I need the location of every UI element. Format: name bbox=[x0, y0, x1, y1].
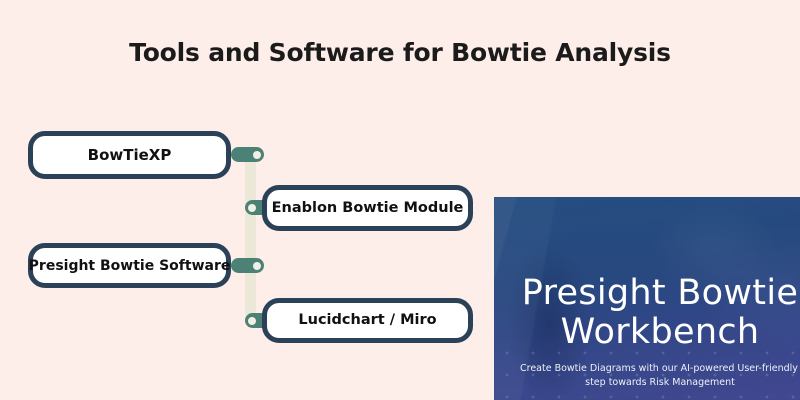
mindmap-node-label: BowTieXP bbox=[88, 148, 172, 163]
connector-dot-icon bbox=[253, 151, 261, 159]
connector-dot-icon bbox=[248, 317, 256, 325]
mindmap-node-label: Presight Bowtie Software bbox=[29, 259, 231, 273]
promo-panel[interactable]: Presight Bowtie Workbench Create Bowtie … bbox=[494, 197, 800, 400]
promo-heading: Presight Bowtie Workbench bbox=[520, 274, 800, 352]
connector-spine bbox=[245, 149, 256, 324]
mindmap-node-label: Lucidchart / Miro bbox=[298, 313, 436, 328]
connector-stub-bowtiexp bbox=[231, 147, 264, 162]
connector-dot-icon bbox=[253, 262, 261, 270]
promo-subtitle-line2: step towards Risk Management bbox=[520, 376, 800, 390]
promo-heading-line2: Workbench bbox=[520, 313, 800, 352]
promo-subtitle: Create Bowtie Diagrams with our AI-power… bbox=[520, 362, 800, 391]
promo-heading-line1: Presight Bowtie bbox=[520, 274, 800, 313]
promo-text-block: Presight Bowtie Workbench Create Bowtie … bbox=[494, 197, 800, 400]
mindmap-node-label: Enablon Bowtie Module bbox=[272, 201, 464, 216]
connector-stub-presight bbox=[231, 258, 264, 273]
connector-dot-icon bbox=[248, 204, 256, 212]
mindmap-node-bowtiexp[interactable]: BowTieXP bbox=[28, 131, 231, 179]
promo-subtitle-line1: Create Bowtie Diagrams with our AI-power… bbox=[520, 362, 800, 376]
page-title: Tools and Software for Bowtie Analysis bbox=[0, 38, 800, 67]
mindmap-canvas: Tools and Software for Bowtie Analysis B… bbox=[0, 0, 800, 400]
mindmap-node-enablon[interactable]: Enablon Bowtie Module bbox=[262, 185, 473, 231]
mindmap-node-lucid[interactable]: Lucidchart / Miro bbox=[262, 298, 473, 343]
mindmap-node-presight[interactable]: Presight Bowtie Software bbox=[28, 243, 231, 288]
